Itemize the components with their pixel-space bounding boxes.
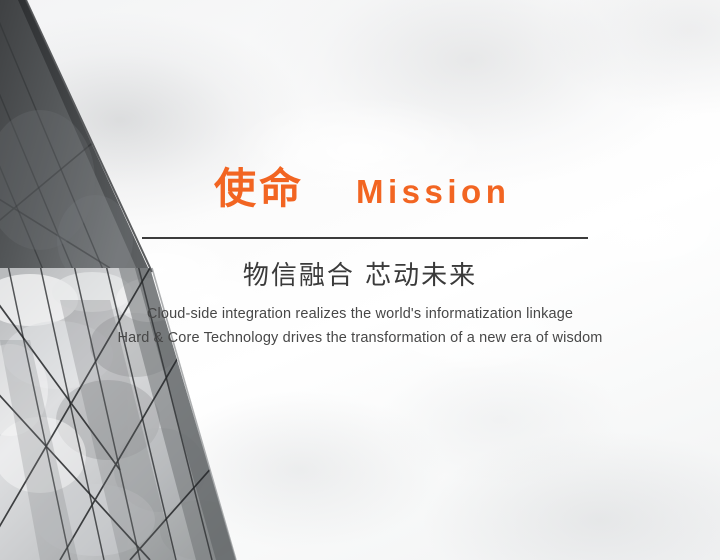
title-divider [142, 237, 588, 239]
english-line-2: Hard & Core Technology drives the transf… [0, 327, 720, 351]
page-title-chinese: 使命 [214, 168, 304, 210]
mission-banner: 使命 Mission 物信融合 芯动未来 Cloud-side integrat… [0, 0, 720, 560]
banner-title-row: 使命 Mission [142, 168, 588, 210]
page-title-english: Mission [356, 175, 510, 208]
subtitle-chinese: 物信融合 芯动未来 [0, 255, 720, 292]
english-line-1: Cloud-side integration realizes the worl… [0, 303, 720, 327]
banner-content: 使命 Mission 物信融合 芯动未来 Cloud-side integrat… [0, 0, 720, 560]
english-description: Cloud-side integration realizes the worl… [0, 303, 720, 350]
